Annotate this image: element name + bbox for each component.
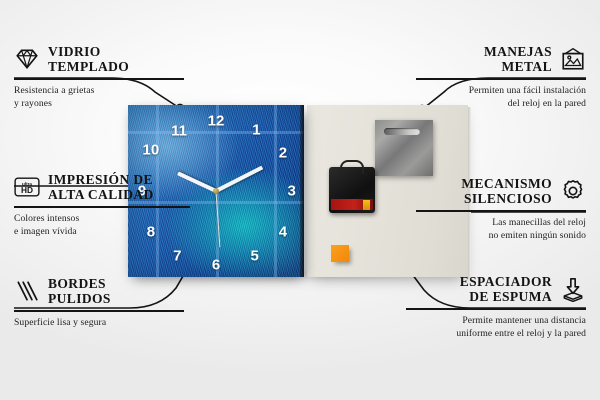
callout-desc-line1: Permiten una fácil instalación	[416, 85, 586, 98]
callout-desc-line2: y rayones	[14, 98, 184, 111]
clock-numeral-7: 7	[173, 249, 181, 264]
callout-desc-line1: Resistencia a grietas	[14, 85, 184, 98]
callout-desc-line1: Colores intensos	[14, 213, 190, 226]
callout-rule	[14, 310, 184, 311]
callout-title: BORDES PULIDOS	[48, 276, 111, 306]
clock-numeral-2: 2	[279, 146, 287, 161]
callout-rule	[416, 78, 586, 79]
callout-title: ESPACIADOR DE ESPUMA	[460, 274, 552, 304]
clock-numeral-10: 10	[143, 142, 160, 157]
callout-bordes-pulidos: BORDES PULIDOS Superficie lisa y segura	[14, 276, 184, 330]
clock-numeral-5: 5	[251, 249, 259, 264]
callout-desc-line2: e imagen vívida	[14, 226, 190, 239]
callout-manejas-metal: MANEJAS METAL Permiten una fácil instala…	[416, 44, 586, 110]
callout-impresion-alta-calidad: ultra HD IMPRESIÓN DE ALTA CALIDAD Color…	[14, 172, 190, 238]
polished-edges-icon	[14, 278, 40, 304]
callout-header: ESPACIADOR DE ESPUMA	[406, 274, 586, 304]
callout-header: BORDES PULIDOS	[14, 276, 184, 306]
callout-desc-line2: no emiten ningún sonido	[416, 230, 586, 243]
callout-espaciador-de-espuma: ESPACIADOR DE ESPUMA Permite mantener un…	[406, 274, 586, 340]
callout-rule	[14, 206, 190, 207]
callout-desc-line1: Las manecillas del reloj	[416, 217, 586, 230]
metal-hanger-plate	[375, 120, 433, 176]
diamond-icon	[14, 46, 40, 72]
face-grid-line	[128, 131, 304, 134]
callout-header: ultra HD IMPRESIÓN DE ALTA CALIDAD	[14, 172, 190, 202]
clock-numeral-4: 4	[279, 225, 287, 240]
mechanism-hanger-loop	[340, 160, 364, 174]
clock-numeral-1: 1	[252, 123, 260, 138]
svg-text:HD: HD	[21, 185, 33, 195]
callout-mecanismo-silencioso: MECANISMO SILENCIOSO Las manecillas del …	[416, 176, 586, 242]
foam-spacer-icon	[560, 276, 586, 302]
callout-desc-line1: Superficie lisa y segura	[14, 317, 184, 330]
mechanism-chip	[363, 200, 370, 210]
clock-numeral-11: 11	[171, 123, 187, 138]
callout-vidrio-templado: VIDRIO TEMPLADO Resistencia a grietas y …	[14, 44, 184, 110]
callout-header: VIDRIO TEMPLADO	[14, 44, 184, 74]
callout-desc-line1: Permite mantener una distancia	[406, 315, 586, 328]
hanger-slot	[384, 128, 420, 135]
gear-icon	[560, 178, 586, 204]
callout-desc-line2: uniforme entre el reloj y la pared	[406, 328, 586, 341]
clock-mechanism	[329, 167, 375, 213]
clock-minute-hand	[215, 166, 263, 193]
clock-numeral-6: 6	[212, 257, 220, 272]
infographic-canvas: 12 1 2 3 4 5 6 7 8 9 10 11 VIDRIO TEMPL	[0, 0, 600, 400]
callout-title: MECANISMO SILENCIOSO	[461, 176, 552, 206]
callout-rule	[406, 308, 586, 309]
clock-center-hub	[213, 188, 219, 194]
callout-header: MANEJAS METAL	[416, 44, 586, 74]
callout-title: IMPRESIÓN DE ALTA CALIDAD	[48, 172, 154, 202]
picture-hanger-icon	[560, 46, 586, 72]
callout-rule	[14, 78, 184, 79]
callout-rule	[416, 210, 586, 211]
callout-title: VIDRIO TEMPLADO	[48, 44, 129, 74]
callout-title: MANEJAS METAL	[484, 44, 552, 74]
clock-numeral-12: 12	[208, 114, 225, 129]
foam-spacer	[331, 245, 349, 262]
clock-numeral-3: 3	[288, 184, 296, 199]
callout-desc-line2: del reloj en la pared	[416, 98, 586, 111]
callout-header: MECANISMO SILENCIOSO	[416, 176, 586, 206]
ultra-hd-icon: ultra HD	[14, 174, 40, 200]
